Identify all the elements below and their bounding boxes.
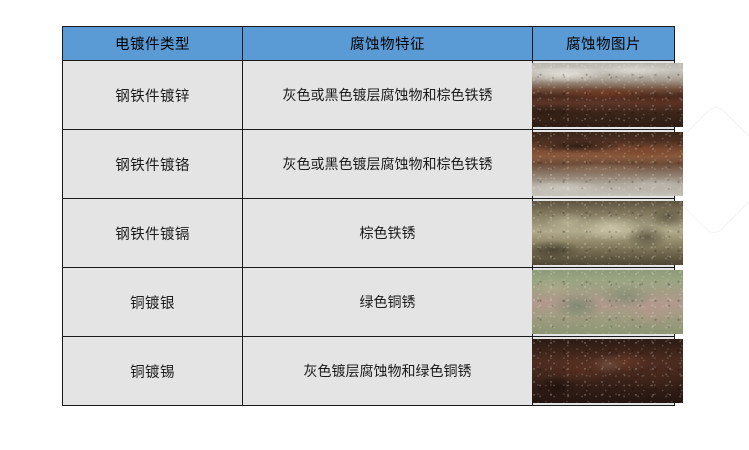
- corrosion-image-cell: [533, 199, 675, 268]
- corrosion-sample-silver-on-copper: [532, 270, 683, 334]
- sample-speckle-layer: [532, 339, 683, 403]
- corrosion-sample-cadmium-on-steel: [532, 201, 683, 265]
- plating-type-cell: 铜镀银: [63, 268, 243, 337]
- corrosion-image-cell: [533, 61, 675, 130]
- sample-speckle-layer: [532, 132, 683, 196]
- table-row: 钢铁件镀锌 灰色或黑色镀层腐蚀物和棕色铁锈: [63, 61, 675, 130]
- corrosion-feature-cell: 灰色或黑色镀层腐蚀物和棕色铁锈: [243, 130, 533, 199]
- corrosion-image-cell: [533, 130, 675, 199]
- corrosion-sample-chrome-on-steel: [532, 132, 683, 196]
- table-body: 钢铁件镀锌 灰色或黑色镀层腐蚀物和棕色铁锈 钢铁件镀铬 灰色或黑色镀层腐蚀物和棕…: [63, 61, 675, 406]
- table-row: 钢铁件镀铬 灰色或黑色镀层腐蚀物和棕色铁锈: [63, 130, 675, 199]
- corrosion-sample-zinc-on-steel: [532, 63, 683, 127]
- table-row: 钢铁件镀镉 棕色铁锈: [63, 199, 675, 268]
- col-corrosion-image: 腐蚀物图片: [533, 27, 675, 61]
- plating-type-cell: 铜镀锡: [63, 337, 243, 406]
- table-row: 铜镀银 绿色铜锈: [63, 268, 675, 337]
- corrosion-feature-cell: 灰色镀层腐蚀物和绿色铜锈: [243, 337, 533, 406]
- corrosion-feature-cell: 棕色铁锈: [243, 199, 533, 268]
- col-plating-type: 电镀件类型: [63, 27, 243, 61]
- table-header: 电镀件类型 腐蚀物特征 腐蚀物图片: [63, 27, 675, 61]
- corrosion-reference-table-container: 电镀件类型 腐蚀物特征 腐蚀物图片 钢铁件镀锌 灰色或黑色镀层腐蚀物和棕色铁锈 …: [62, 26, 674, 406]
- sample-speckle-layer: [532, 63, 683, 127]
- plating-type-cell: 钢铁件镀锌: [63, 61, 243, 130]
- col-corrosion-feature: 腐蚀物特征: [243, 27, 533, 61]
- plating-type-cell: 钢铁件镀铬: [63, 130, 243, 199]
- sample-speckle-layer: [532, 201, 683, 265]
- corrosion-image-cell: [533, 268, 675, 337]
- table-header-row: 电镀件类型 腐蚀物特征 腐蚀物图片: [63, 27, 675, 61]
- corrosion-reference-table: 电镀件类型 腐蚀物特征 腐蚀物图片 钢铁件镀锌 灰色或黑色镀层腐蚀物和棕色铁锈 …: [62, 26, 675, 406]
- sample-speckle-layer: [532, 270, 683, 334]
- corrosion-feature-cell: 灰色或黑色镀层腐蚀物和棕色铁锈: [243, 61, 533, 130]
- corrosion-image-cell: [533, 337, 675, 406]
- table-row: 铜镀锡 灰色镀层腐蚀物和绿色铜锈: [63, 337, 675, 406]
- plating-type-cell: 钢铁件镀镉: [63, 199, 243, 268]
- corrosion-sample-tin-on-copper: [532, 339, 683, 403]
- corrosion-feature-cell: 绿色铜锈: [243, 268, 533, 337]
